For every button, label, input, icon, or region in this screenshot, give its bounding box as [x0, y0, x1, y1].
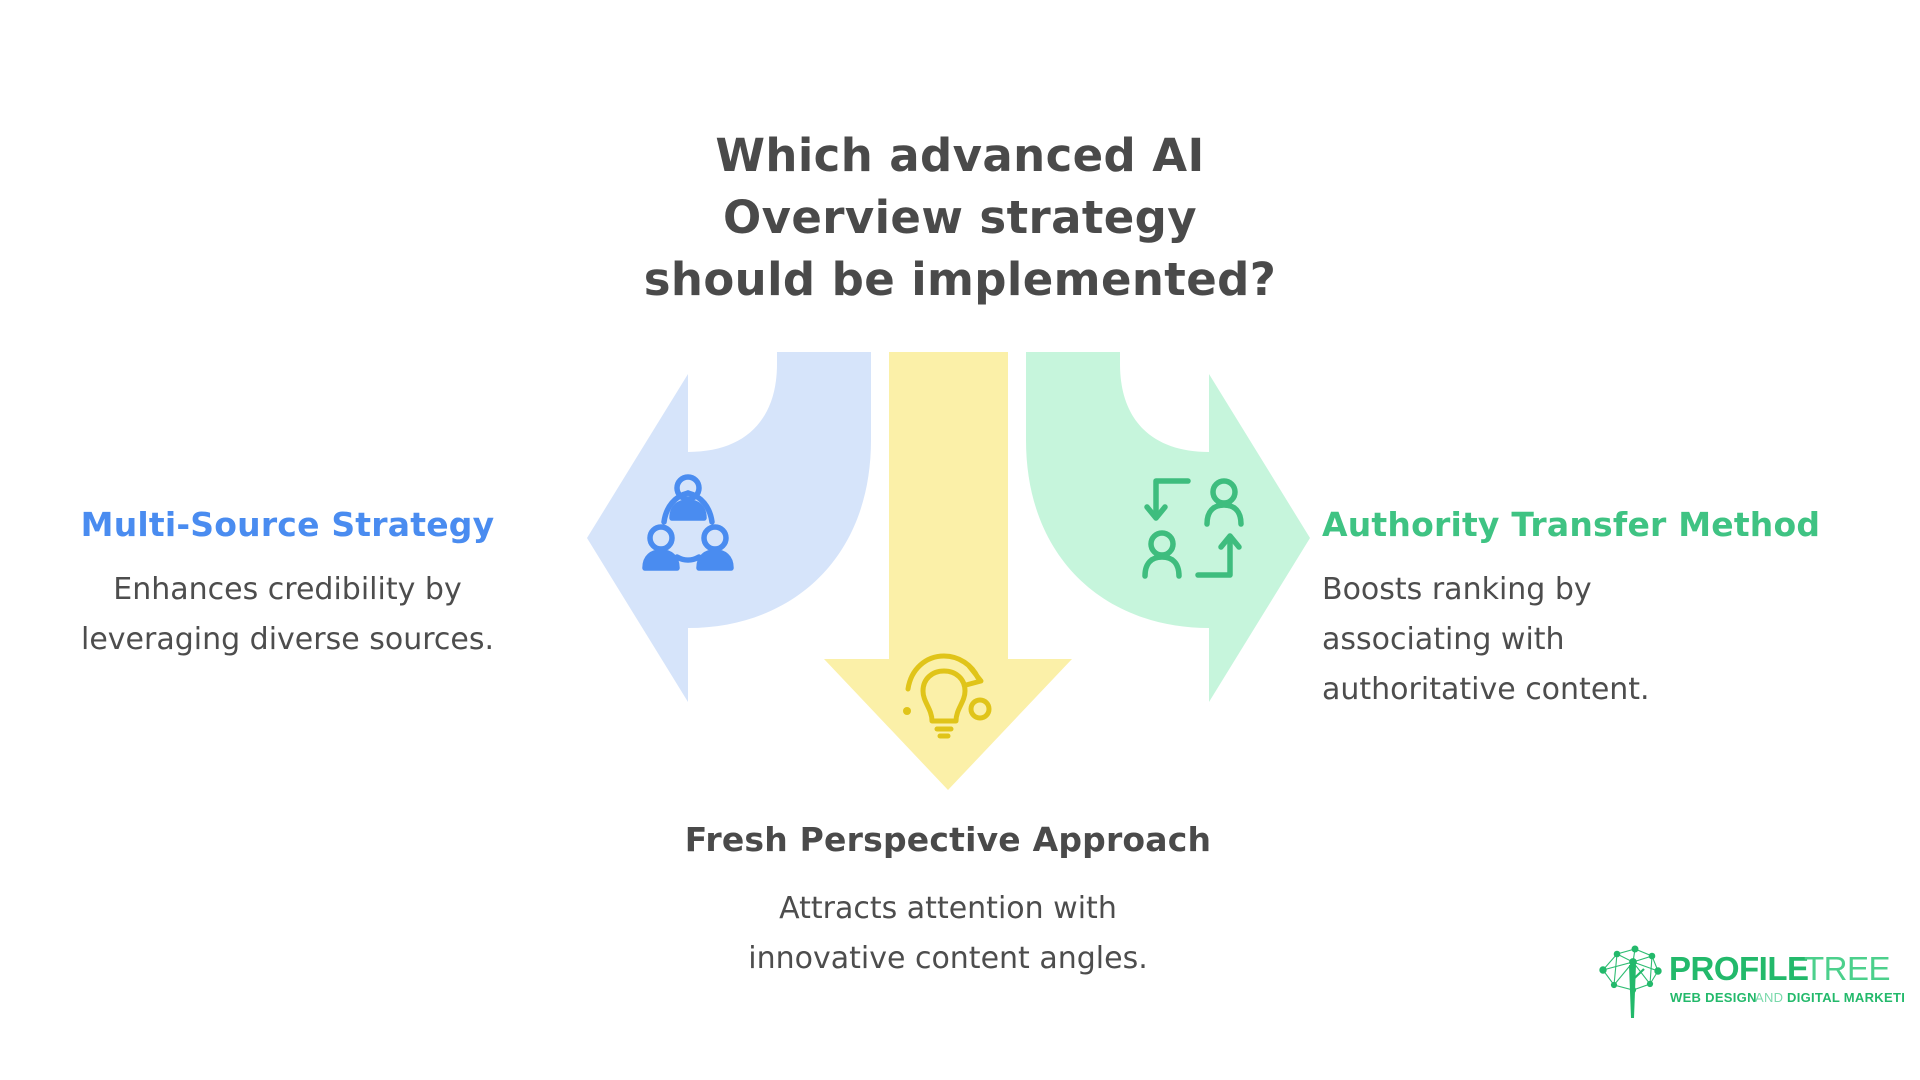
logo-tagline-and: AND	[1755, 990, 1783, 1005]
branch-body-line: associating with	[1322, 615, 1920, 665]
branch-body-line: leveraging diverse sources.	[0, 615, 575, 665]
branch-body-multi-source: Enhances credibility by leveraging diver…	[0, 565, 575, 665]
arrow-left-shape	[587, 352, 871, 702]
branch-fresh-perspective: Fresh Perspective Approach Attracts atte…	[558, 820, 1338, 984]
branch-body-line: Enhances credibility by	[0, 565, 575, 615]
profiletree-logo[interactable]: PROFILE TREE WEB DESIGN AND DIGITAL MARK…	[1595, 940, 1905, 1018]
logo-tagline-web-design: WEB DESIGN	[1670, 990, 1757, 1005]
branch-body-authority-transfer: Boosts ranking by associating with autho…	[1322, 565, 1920, 715]
branch-heading-multi-source: Multi-Source Strategy	[0, 505, 575, 545]
logo-tagline-digital-marketing: DIGITAL MARKETING	[1787, 990, 1905, 1005]
branch-heading-authority-transfer: Authority Transfer Method	[1322, 505, 1920, 545]
arrow-right-shape	[1026, 352, 1310, 702]
branch-body-line: authoritative content.	[1322, 665, 1920, 715]
branch-multi-source: Multi-Source Strategy Enhances credibili…	[0, 505, 575, 665]
branch-body-line: Boosts ranking by	[1322, 565, 1920, 615]
branch-body-line: Attracts attention with	[558, 884, 1338, 934]
logo-name-light: TREE	[1804, 950, 1890, 987]
branch-body-line: innovative content angles.	[558, 934, 1338, 984]
infographic-canvas: Which advanced AI Overview strategy shou…	[0, 0, 1920, 1080]
arrow-right-authority-transfer	[1026, 352, 1310, 702]
arrow-left-multi-source	[587, 352, 871, 702]
branch-body-fresh-perspective: Attracts attention with innovative conte…	[558, 884, 1338, 984]
branch-heading-fresh-perspective: Fresh Perspective Approach	[558, 820, 1338, 860]
branch-authority-transfer: Authority Transfer Method Boosts ranking…	[1322, 505, 1920, 715]
logo-name-bold: PROFILE	[1669, 950, 1809, 987]
profiletree-network-tree-icon	[1600, 946, 1661, 1018]
